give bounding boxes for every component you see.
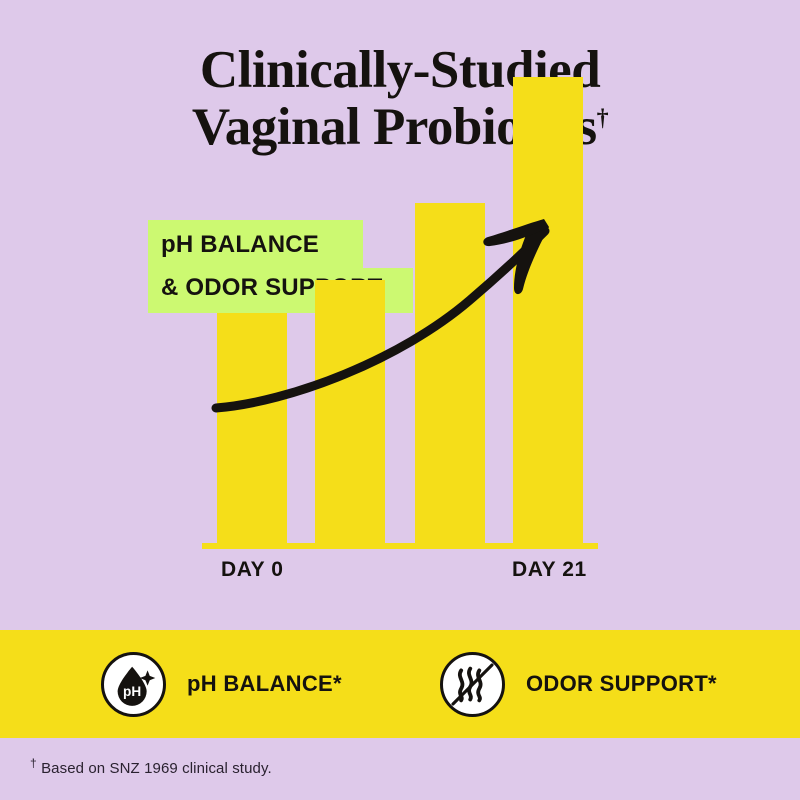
svg-text:pH: pH xyxy=(123,683,141,698)
poster-canvas: Clinically-Studied Vaginal Probiotics† p… xyxy=(0,0,800,800)
bar-chart: DAY 0 DAY 21 xyxy=(0,0,800,620)
chart-baseline xyxy=(202,543,598,549)
benefit-label-ph-balance: pH BALANCE* xyxy=(187,671,342,697)
bar-day-7 xyxy=(315,280,385,543)
footnote: † Based on SNZ 1969 clinical study. xyxy=(30,760,272,777)
benefit-odor-support: ODOR SUPPORT* xyxy=(440,630,717,738)
benefit-ph-balance: pH pH BALANCE* xyxy=(101,630,342,738)
axis-tick-day-21: DAY 21 xyxy=(512,558,587,582)
bar-day-0 xyxy=(217,313,287,543)
footnote-dagger: † xyxy=(30,756,37,770)
ph-droplet-icon: pH xyxy=(101,652,166,717)
benefits-band: pH pH BALANCE* ODOR SUPPORT* xyxy=(0,630,800,738)
footnote-text: Based on SNZ 1969 clinical study. xyxy=(41,760,272,777)
chart-bars xyxy=(0,0,800,543)
bar-day-21 xyxy=(513,77,583,543)
no-odor-waves-icon xyxy=(440,652,505,717)
benefit-label-odor-support: ODOR SUPPORT* xyxy=(526,671,717,697)
bar-day-14 xyxy=(415,203,485,543)
axis-tick-day-0: DAY 0 xyxy=(221,558,284,582)
